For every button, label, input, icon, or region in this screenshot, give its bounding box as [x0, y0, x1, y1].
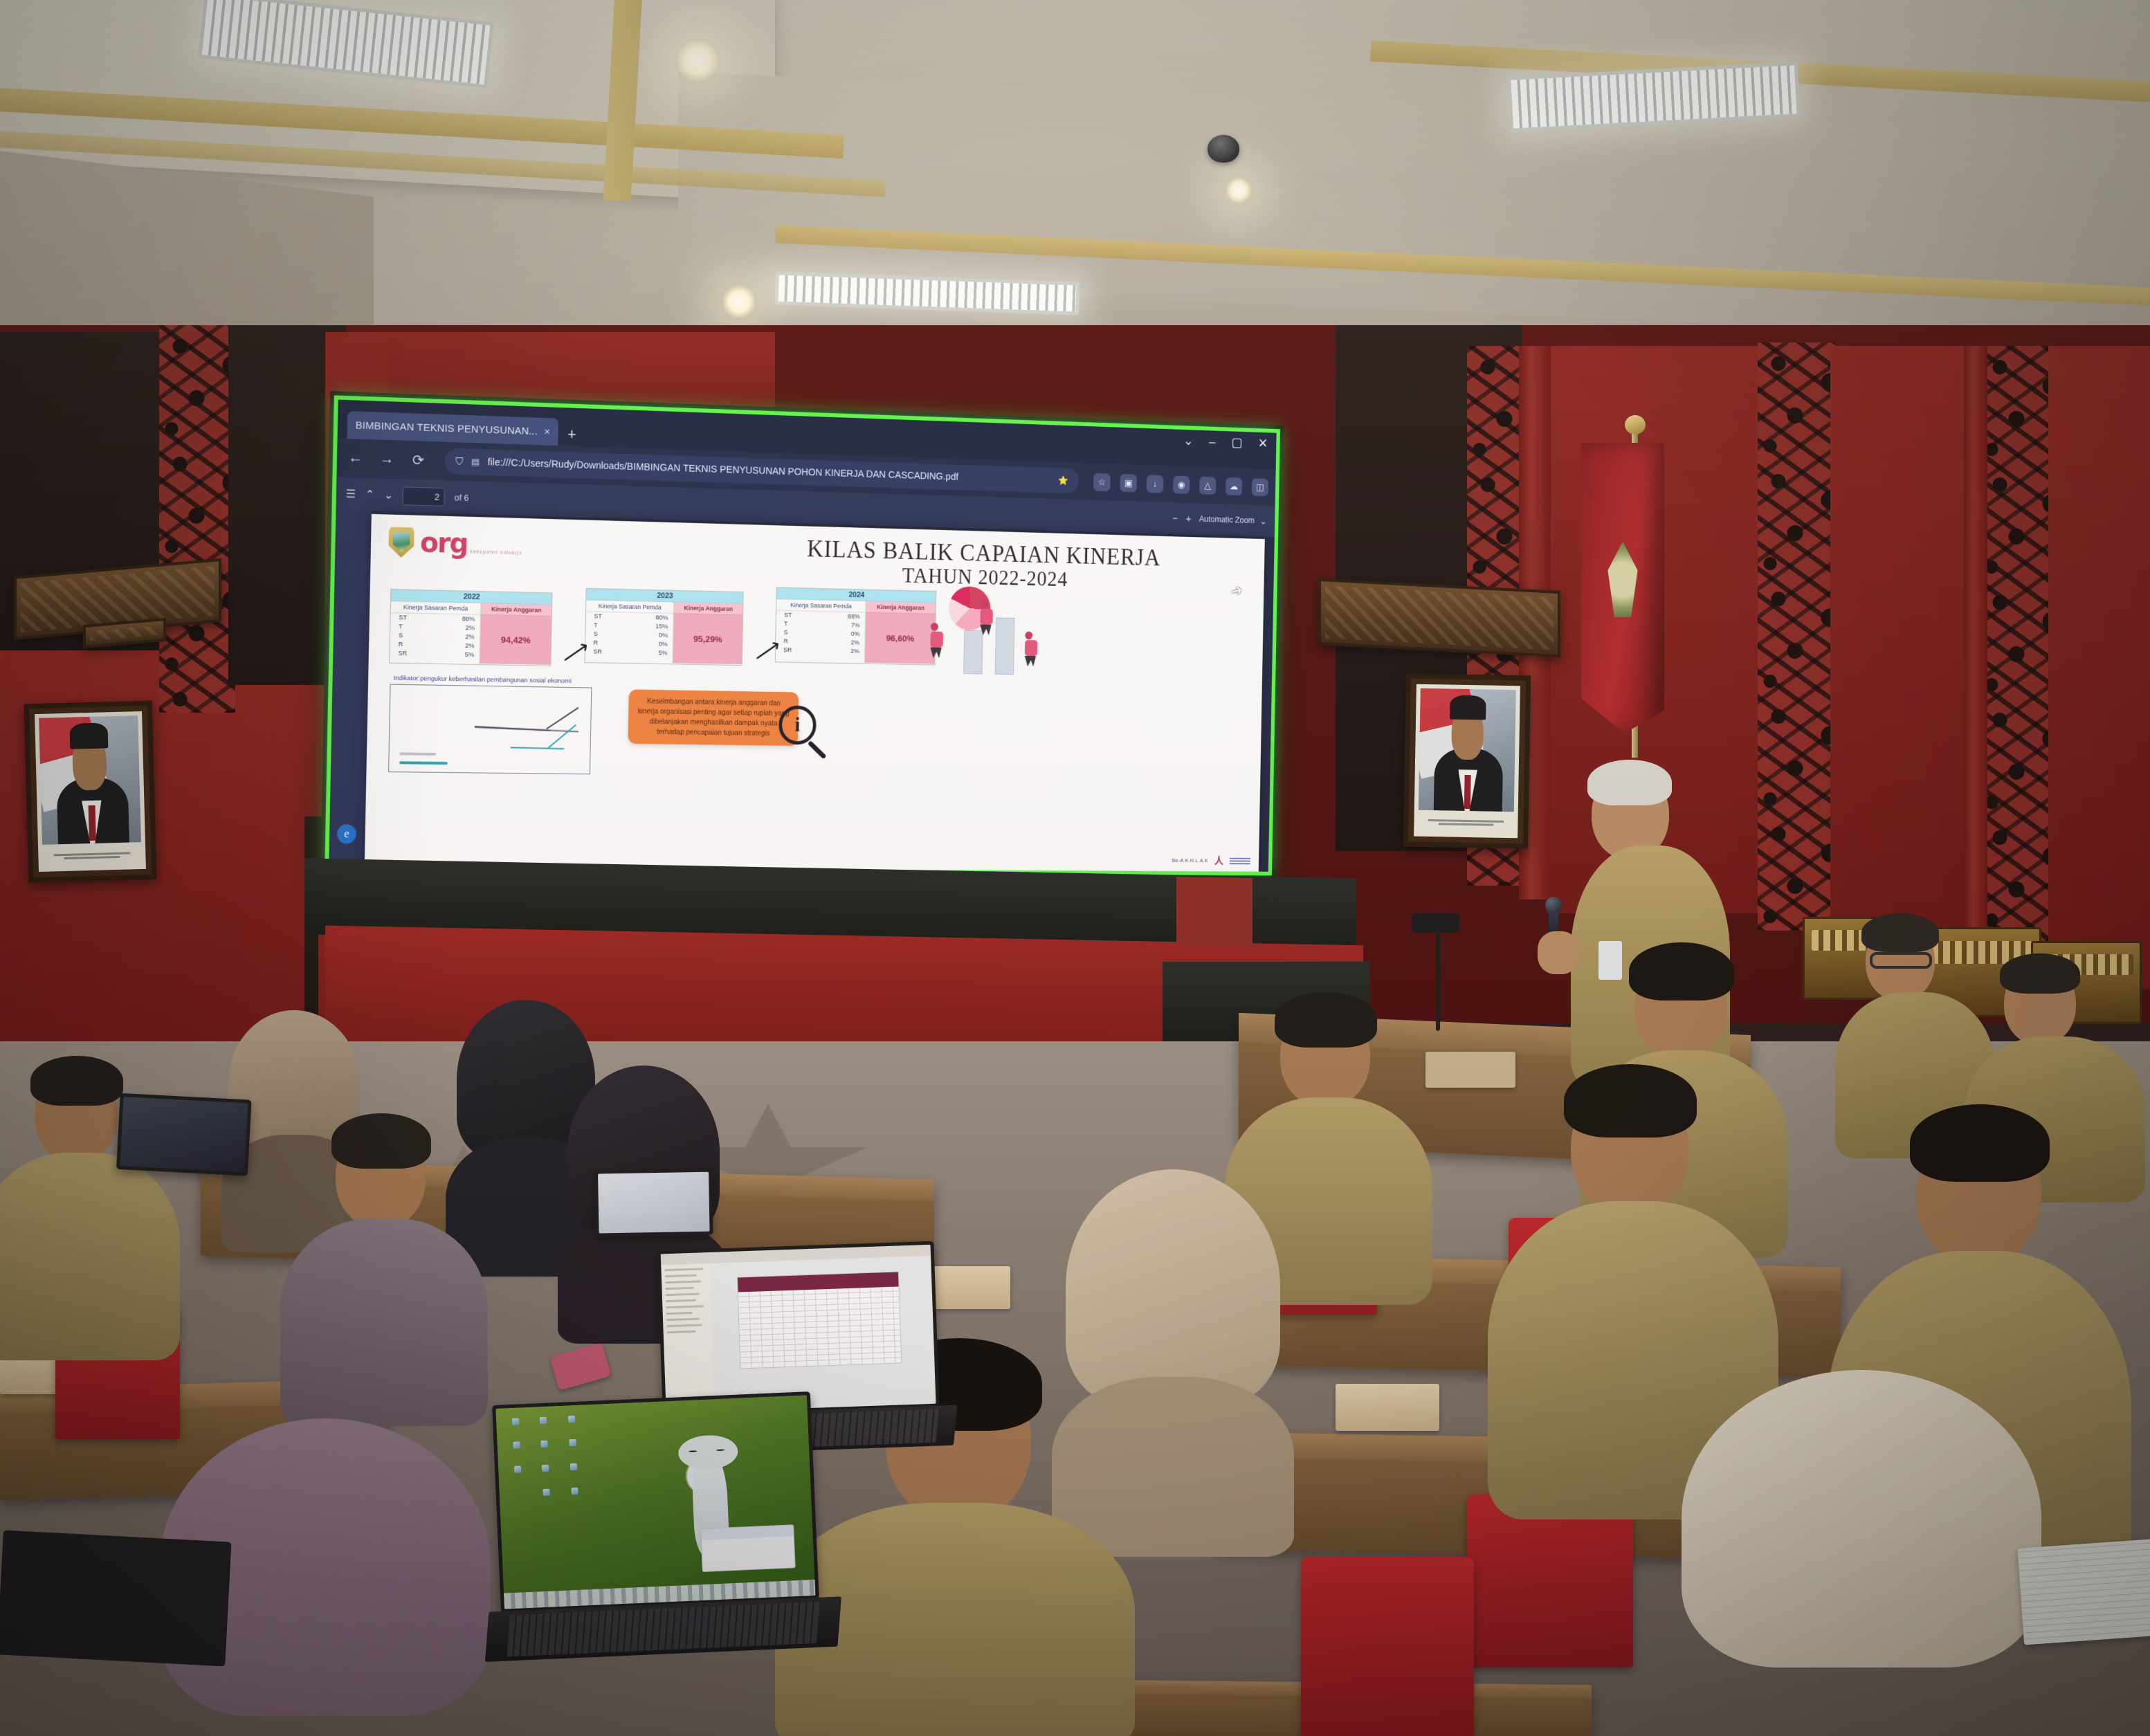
year-table-2024: 2024 Kinerja Sasaran Pemda ST88% T7% S0%…: [775, 587, 937, 666]
slide-title: KILAS BALIK CAPAIAN KINERJA TAHUN 2022-2…: [806, 536, 1160, 594]
person-illustration: [1025, 632, 1038, 667]
wall-pillar: [1964, 346, 1987, 969]
hair: [331, 1113, 431, 1169]
shield-icon: ⛉: [455, 455, 463, 467]
tab-title: BIMBINGAN TEKNIS PENYUSUNAN...: [356, 419, 538, 437]
presenter-hand: [1538, 931, 1579, 974]
zoom-out-button[interactable]: −: [1172, 513, 1178, 524]
document-page: [737, 1271, 902, 1369]
budget-performance-value: 96,60%: [865, 612, 936, 664]
edge-logo-icon: e: [337, 824, 356, 843]
desk-microphone: [1412, 913, 1460, 933]
torso: [280, 1218, 488, 1426]
downloads-icon[interactable]: ↓: [1147, 475, 1163, 493]
conference-room-photo: BIMBINGAN TEKNIS PENYUSUNAN... × + ⌄ – ▢…: [0, 0, 2150, 1736]
chevron-down-icon: ⌄: [1260, 516, 1266, 526]
budget-performance-value: 95,29%: [673, 614, 743, 664]
pdf-page: org kabupaten sidoarjo KILAS BALIK CAPAI…: [365, 514, 1265, 872]
presenter-hair: [1587, 760, 1672, 805]
stage-accent-block: [1176, 877, 1252, 947]
browser-toolbar-icons: ☆ ▣ ↓ ◉ △ ☁ ◫: [1093, 473, 1268, 495]
hair: [1910, 1104, 2050, 1182]
logo-wordmark: org: [420, 527, 468, 560]
year-table-2022: 2022 Kinerja Sasaran Pemda ST88% T2% S2%…: [389, 589, 552, 666]
url-text: file:///C:/Users/Rudy/Downloads/BIMBINGA…: [488, 457, 959, 482]
batik-panel: [159, 325, 235, 713]
table-row: SR5%: [390, 649, 480, 659]
hair: [2000, 953, 2080, 994]
chart-line-series-c-rise: [548, 724, 576, 749]
callout-box: Keseimbangan antara kinerja anggaran dan…: [628, 689, 799, 745]
page-down-icon[interactable]: ⌄: [384, 488, 394, 502]
slide-logo: org kabupaten sidoarjo: [388, 527, 522, 560]
hair: [1629, 942, 1734, 1001]
laptop-screen[interactable]: [661, 1245, 936, 1413]
reader-mode-icon[interactable]: ▤: [471, 457, 480, 468]
extensions-icon[interactable]: ◉: [1173, 475, 1190, 493]
person-illustration: [930, 623, 943, 658]
audience-member-purple: [301, 1124, 467, 1415]
hair: [1861, 913, 1939, 952]
chart-legend-entry: [399, 752, 436, 756]
logo-subtitle: kabupaten sidoarjo: [470, 549, 522, 556]
flag-finial: [1625, 415, 1646, 435]
chair: [1301, 1557, 1474, 1736]
app-sidebar: [661, 1263, 715, 1413]
maximize-icon[interactable]: ▢: [1231, 435, 1242, 450]
mic-stand: [1436, 927, 1440, 1031]
official-portrait-right: [1403, 673, 1531, 848]
close-window-icon[interactable]: ✕: [1258, 436, 1268, 451]
copilot-icon[interactable]: △: [1199, 476, 1216, 494]
laptop-screen[interactable]: [495, 1395, 815, 1609]
new-tab-button[interactable]: +: [563, 427, 580, 446]
budget-performance-value: 94,42%: [480, 615, 552, 665]
hair: [1564, 1064, 1697, 1137]
page-up-icon[interactable]: ⌃: [365, 488, 375, 502]
laptop-lid: [116, 1093, 251, 1176]
laptop-small-left[interactable]: [115, 1093, 258, 1197]
zoom-controls: − + Automatic Zoom ⌄: [1172, 513, 1266, 527]
person-illustration: [980, 600, 993, 635]
forward-icon[interactable]: →: [376, 450, 397, 468]
favorite-icon[interactable]: ⭐: [1059, 475, 1069, 486]
zoom-level-label: Automatic Zoom: [1199, 514, 1255, 525]
dome-camera-icon: [1208, 135, 1239, 163]
eyeglasses: [1870, 952, 1932, 969]
chair: [1467, 1495, 1633, 1668]
table-row: SR2%: [776, 646, 865, 657]
bird-head: [677, 1434, 738, 1471]
shield-emblem-icon: [388, 527, 414, 558]
projection-screen: BIMBINGAN TEKNIS PENYUSUNAN... × + ⌄ – ▢…: [320, 391, 1284, 879]
chart-line-series-c: [511, 747, 565, 750]
zoom-in-button[interactable]: +: [1185, 513, 1191, 524]
chevron-down-icon[interactable]: ⌄: [1183, 434, 1193, 449]
official-portrait-left: [24, 701, 157, 883]
browser-essentials-icon[interactable]: ☁: [1226, 477, 1242, 495]
desktop-wallpaper: [495, 1395, 815, 1609]
back-icon[interactable]: ←: [345, 450, 366, 467]
collections-icon[interactable]: ▣: [1120, 474, 1137, 492]
batik-panel: [1758, 342, 1835, 931]
wall-red-panel: [2048, 346, 2150, 989]
ceremonial-flag: [1581, 443, 1664, 733]
hair: [1275, 992, 1377, 1048]
bar-illustration: [995, 617, 1015, 675]
sidebar-toggle-icon[interactable]: ☰: [346, 487, 356, 501]
page-number-input[interactable]: 2: [403, 486, 445, 506]
close-icon[interactable]: ×: [544, 426, 550, 437]
downlight: [1225, 176, 1252, 204]
footer-logo-icon: 人: [1214, 854, 1224, 868]
paper-documents: [2017, 1537, 2150, 1645]
projected-browser-window[interactable]: BIMBINGAN TEKNIS PENYUSUNAN... × + ⌄ – ▢…: [329, 400, 1276, 872]
hair: [30, 1056, 123, 1106]
tablet-body: [594, 1169, 713, 1237]
wood-canopy: [1318, 578, 1560, 657]
info-magnifier-icon: i: [778, 705, 817, 744]
slide-footer: Be-A.K.H.L.A.K 人: [1172, 854, 1250, 868]
notification-popup[interactable]: [700, 1524, 796, 1573]
bar-illustration: [963, 630, 983, 675]
chart-legend-entry: [399, 761, 448, 765]
page-total-label: of 6: [454, 492, 468, 502]
downlight: [675, 38, 720, 84]
downlight: [721, 284, 757, 320]
split-screen-icon[interactable]: ◫: [1252, 478, 1268, 496]
tablet-device[interactable]: [594, 1168, 720, 1253]
refresh-icon[interactable]: ⟳: [408, 451, 428, 469]
batik-panel: [1979, 346, 2052, 969]
audience-member-hijab-5: [1682, 1370, 2041, 1736]
chart-caption: Indikator pengukur keberhasilan pembangu…: [394, 675, 572, 685]
footer-lines: [1230, 857, 1250, 864]
laptop-front-left[interactable]: [0, 1530, 231, 1666]
bookmark-icon[interactable]: ☆: [1093, 473, 1111, 491]
footer-slogan: Be-A.K.H.L.A.K: [1172, 857, 1208, 864]
laptop-screen[interactable]: [120, 1097, 248, 1172]
spreadsheet-document: [661, 1245, 936, 1413]
laptop-lid: [657, 1241, 940, 1417]
snack-box: [1336, 1384, 1439, 1431]
laptop-lid: [492, 1391, 819, 1613]
year-table-2023: 2023 Kinerja Sasaran Pemda ST80% T15% S0…: [585, 588, 744, 666]
hijab: [1682, 1370, 2041, 1668]
window-controls: ⌄ – ▢ ✕: [1183, 434, 1268, 452]
table-row: SR5%: [585, 648, 673, 658]
laptop-desktop[interactable]: [492, 1390, 850, 1695]
tablet-screen[interactable]: [598, 1172, 709, 1234]
indicator-line-chart: Indikator pengukur keberhasilan pembangu…: [388, 684, 592, 775]
minimize-icon[interactable]: –: [1209, 435, 1216, 449]
zoom-level-select[interactable]: Automatic Zoom ⌄: [1199, 514, 1266, 526]
